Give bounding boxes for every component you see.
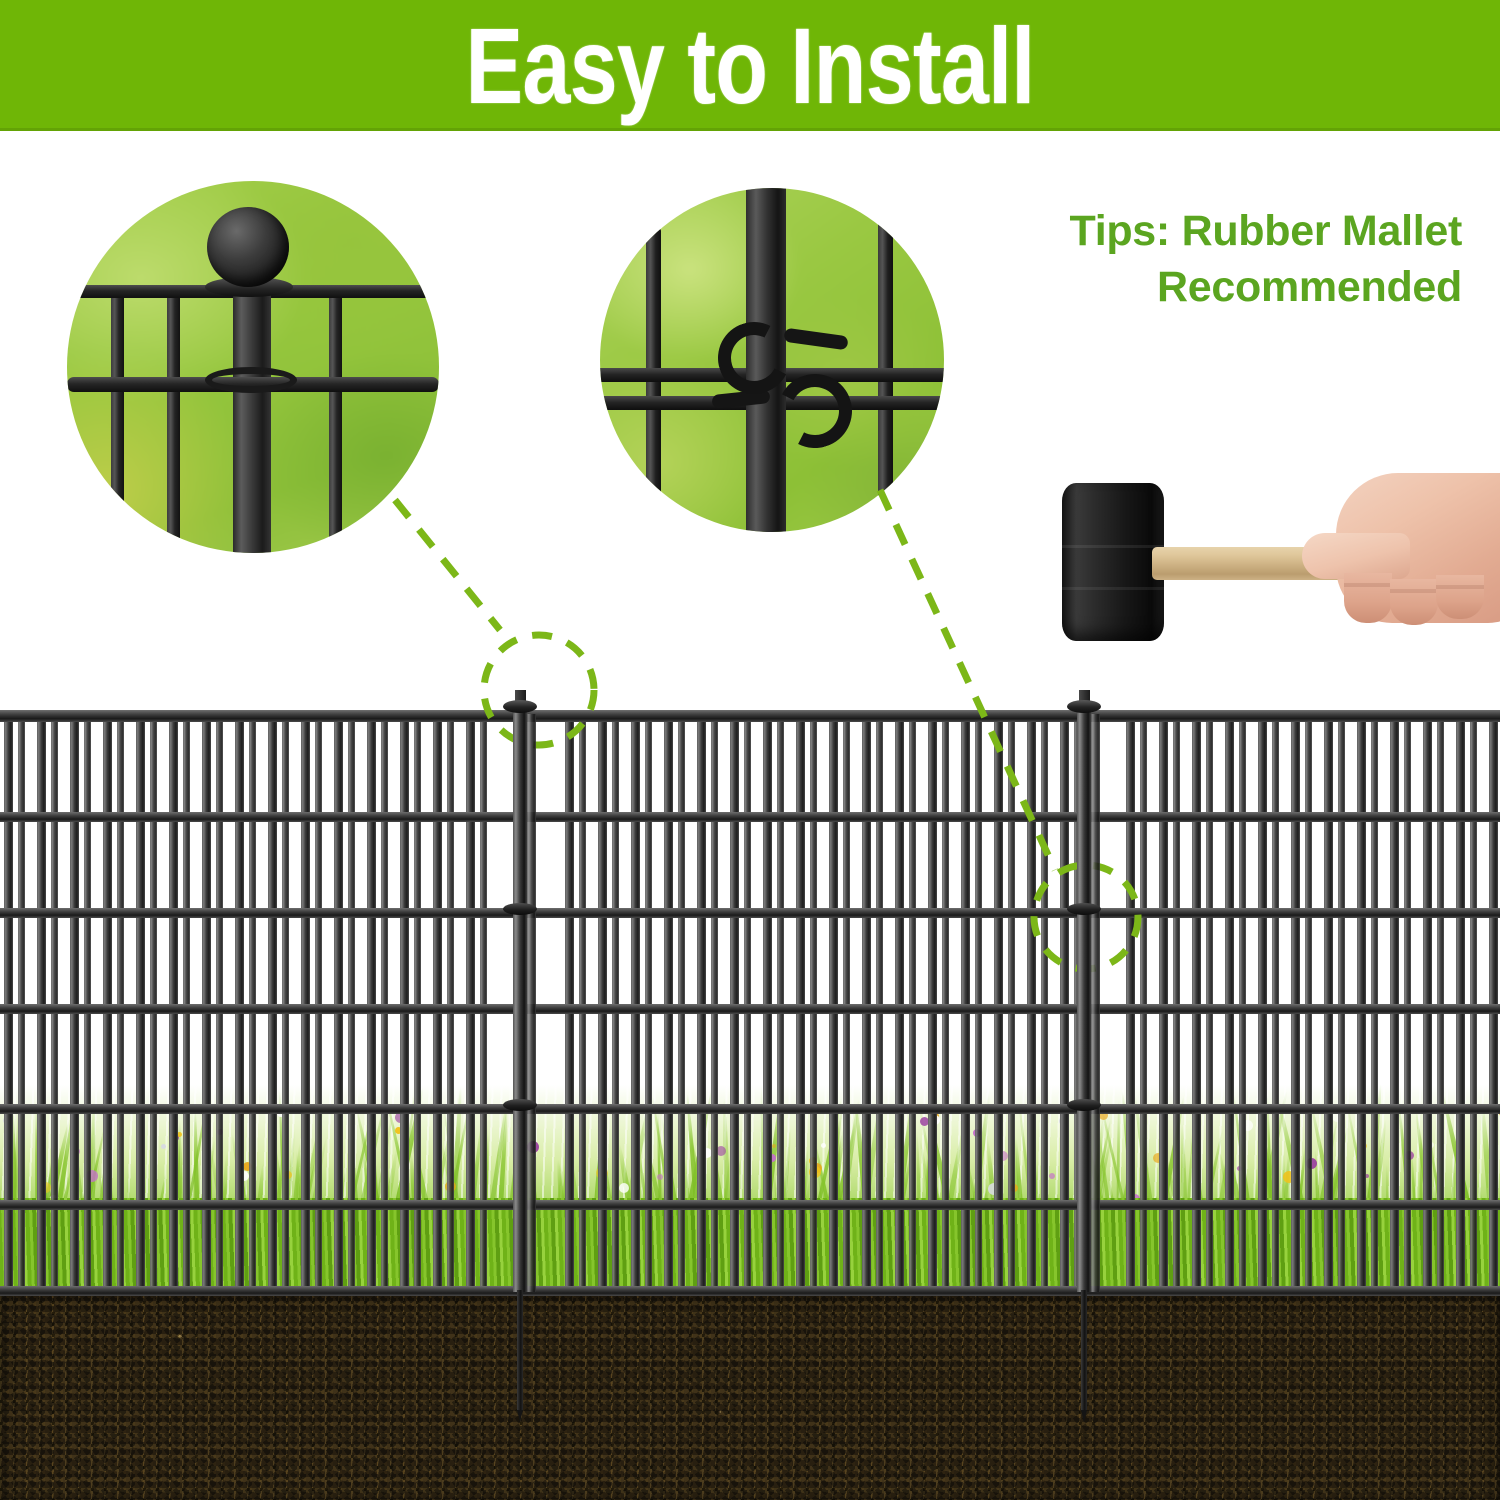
wildflower: [161, 1144, 166, 1149]
page-title: Easy to Install: [150, 0, 1350, 131]
fence-post: [1091, 714, 1100, 1292]
inset-vertical-bar: [111, 289, 124, 553]
detail-inset-ball-cap-finial: [67, 181, 439, 553]
wildflower: [657, 1174, 663, 1180]
ground-stake: [517, 1290, 523, 1410]
tips-line-1: Tips: Rubber Mallet: [942, 204, 1462, 260]
fence-horizontal-rail: [0, 1004, 1500, 1014]
finger: [1344, 573, 1392, 623]
fence-post: [1077, 708, 1091, 1292]
tips-line-2: Recommended: [942, 260, 1462, 316]
rubber-mallet-illustration: [1040, 455, 1500, 675]
inset-rail-loop: [205, 367, 297, 393]
fence-horizontal-rail: [0, 812, 1500, 822]
wildflower: [619, 1183, 629, 1193]
fence-horizontal-rail: [0, 710, 1500, 722]
fence-horizontal-rail: [0, 1200, 1500, 1210]
wildflower: [1049, 1173, 1055, 1179]
wildflower: [772, 1144, 776, 1148]
s-hook-connector: [1067, 1099, 1101, 1111]
fence-horizontal-rail: [0, 1286, 1500, 1296]
hand-holding-mallet: [1302, 461, 1500, 635]
inset-vertical-bar: [878, 212, 893, 512]
s-hook-connector: [1067, 903, 1101, 915]
header-banner: Easy to Install: [0, 0, 1500, 131]
inset-vertical-bar: [329, 285, 342, 553]
finger: [1390, 579, 1438, 625]
tips-text: Tips: Rubber Mallet Recommended: [942, 204, 1462, 316]
post-cap: [1067, 700, 1101, 713]
fence-post: [513, 708, 527, 1292]
mallet-head-icon: [1062, 483, 1164, 641]
wildflower: [821, 1143, 826, 1148]
finger: [1436, 575, 1484, 619]
post-cap: [503, 700, 537, 713]
fence-post: [527, 714, 536, 1292]
ground-stake: [1081, 1290, 1087, 1410]
soil-ground: [0, 1290, 1500, 1500]
detail-inset-s-hook-connector: [600, 188, 944, 532]
ball-finial-icon: [207, 207, 289, 287]
s-hook-connector: [503, 1099, 537, 1111]
fence-scene: [0, 690, 1500, 1500]
inset-fence-post: [233, 281, 271, 553]
s-hook-connector: [503, 903, 537, 915]
inset-vertical-bar: [167, 293, 180, 553]
fence-horizontal-rail: [0, 1104, 1500, 1114]
product-image-canvas: Easy to Install Tips: Rubber Mallet Reco…: [0, 0, 1500, 1500]
fence-horizontal-rail: [0, 908, 1500, 918]
